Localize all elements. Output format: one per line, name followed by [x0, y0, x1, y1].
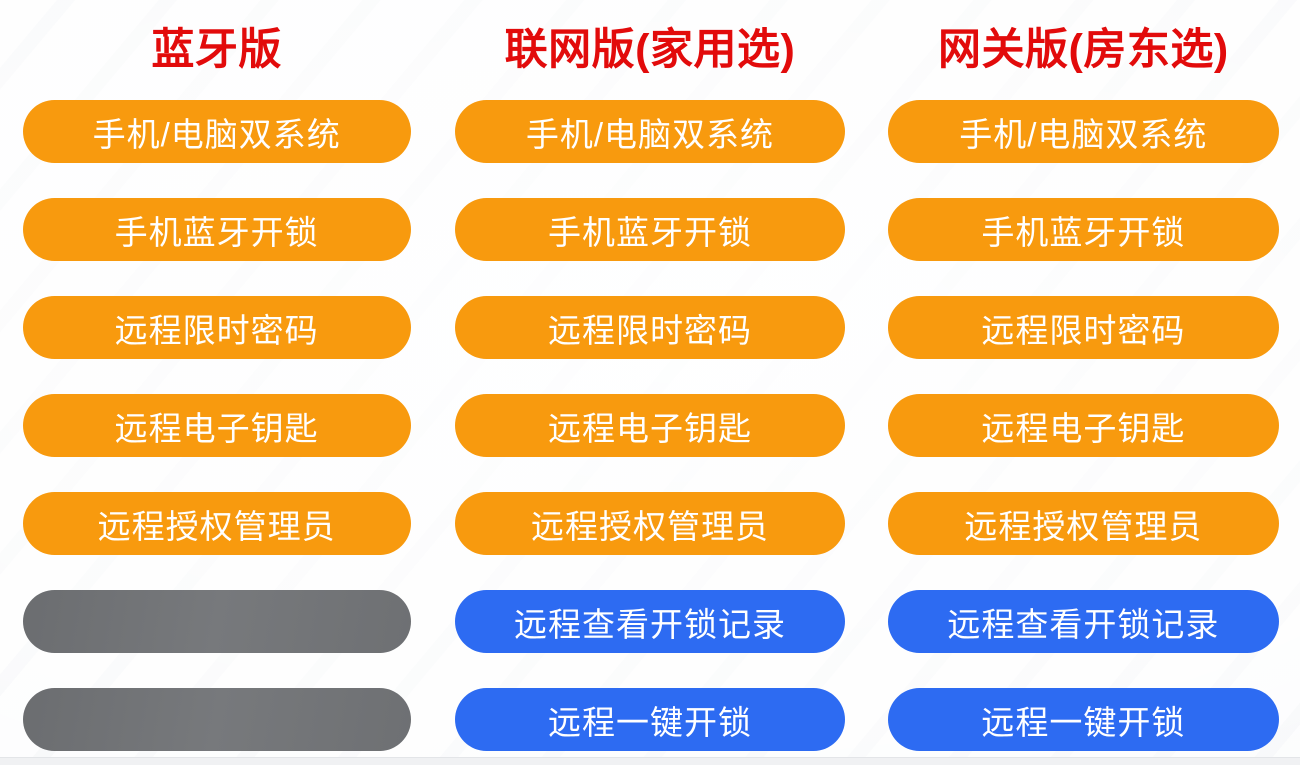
feature-pill-bluetooth-unlock[interactable]: 手机蓝牙开锁: [888, 198, 1279, 261]
feature-pill-remote-ekey[interactable]: 远程电子钥匙: [23, 394, 411, 457]
column-header-bluetooth: 蓝牙版: [151, 0, 282, 100]
feature-pill-unavailable-remote-unlock: [23, 688, 411, 751]
feature-pill-unavailable-unlock-records: [23, 590, 411, 653]
feature-pill-dual-system[interactable]: 手机/电脑双系统: [455, 100, 845, 163]
feature-pill-remote-admin-auth[interactable]: 远程授权管理员: [888, 492, 1279, 555]
comparison-column-network: 联网版(家用选) 手机/电脑双系统 手机蓝牙开锁 远程限时密码 远程电子钥匙 远…: [433, 0, 866, 765]
feature-pill-remote-one-key-unlock[interactable]: 远程一键开锁: [888, 688, 1279, 751]
feature-pill-remote-ekey[interactable]: 远程电子钥匙: [888, 394, 1279, 457]
feature-comparison-board: 蓝牙版 手机/电脑双系统 手机蓝牙开锁 远程限时密码 远程电子钥匙 远程授权管理…: [0, 0, 1300, 765]
feature-list-gateway: 手机/电脑双系统 手机蓝牙开锁 远程限时密码 远程电子钥匙 远程授权管理员 远程…: [882, 100, 1285, 751]
feature-pill-remote-ekey[interactable]: 远程电子钥匙: [455, 394, 845, 457]
feature-pill-remote-unlock-records[interactable]: 远程查看开锁记录: [455, 590, 845, 653]
comparison-column-gateway: 网关版(房东选) 手机/电脑双系统 手机蓝牙开锁 远程限时密码 远程电子钥匙 远…: [867, 0, 1300, 765]
feature-pill-bluetooth-unlock[interactable]: 手机蓝牙开锁: [23, 198, 411, 261]
comparison-column-bluetooth: 蓝牙版 手机/电脑双系统 手机蓝牙开锁 远程限时密码 远程电子钥匙 远程授权管理…: [0, 0, 433, 765]
feature-pill-dual-system[interactable]: 手机/电脑双系统: [888, 100, 1279, 163]
feature-pill-remote-admin-auth[interactable]: 远程授权管理员: [455, 492, 845, 555]
feature-pill-bluetooth-unlock[interactable]: 手机蓝牙开锁: [455, 198, 845, 261]
column-header-gateway: 网关版(房东选): [938, 0, 1229, 100]
comparison-grid: 蓝牙版 手机/电脑双系统 手机蓝牙开锁 远程限时密码 远程电子钥匙 远程授权管理…: [0, 0, 1300, 765]
feature-pill-remote-temp-password[interactable]: 远程限时密码: [888, 296, 1279, 359]
feature-pill-remote-one-key-unlock[interactable]: 远程一键开锁: [455, 688, 845, 751]
feature-pill-remote-temp-password[interactable]: 远程限时密码: [23, 296, 411, 359]
feature-pill-remote-unlock-records[interactable]: 远程查看开锁记录: [888, 590, 1279, 653]
feature-list-bluetooth: 手机/电脑双系统 手机蓝牙开锁 远程限时密码 远程电子钥匙 远程授权管理员: [15, 100, 418, 751]
feature-pill-remote-admin-auth[interactable]: 远程授权管理员: [23, 492, 411, 555]
feature-pill-remote-temp-password[interactable]: 远程限时密码: [455, 296, 845, 359]
column-header-network: 联网版(家用选): [505, 0, 796, 100]
feature-pill-dual-system[interactable]: 手机/电脑双系统: [23, 100, 411, 163]
bottom-edge-strip: [0, 757, 1300, 765]
feature-list-network: 手机/电脑双系统 手机蓝牙开锁 远程限时密码 远程电子钥匙 远程授权管理员 远程…: [448, 100, 851, 751]
